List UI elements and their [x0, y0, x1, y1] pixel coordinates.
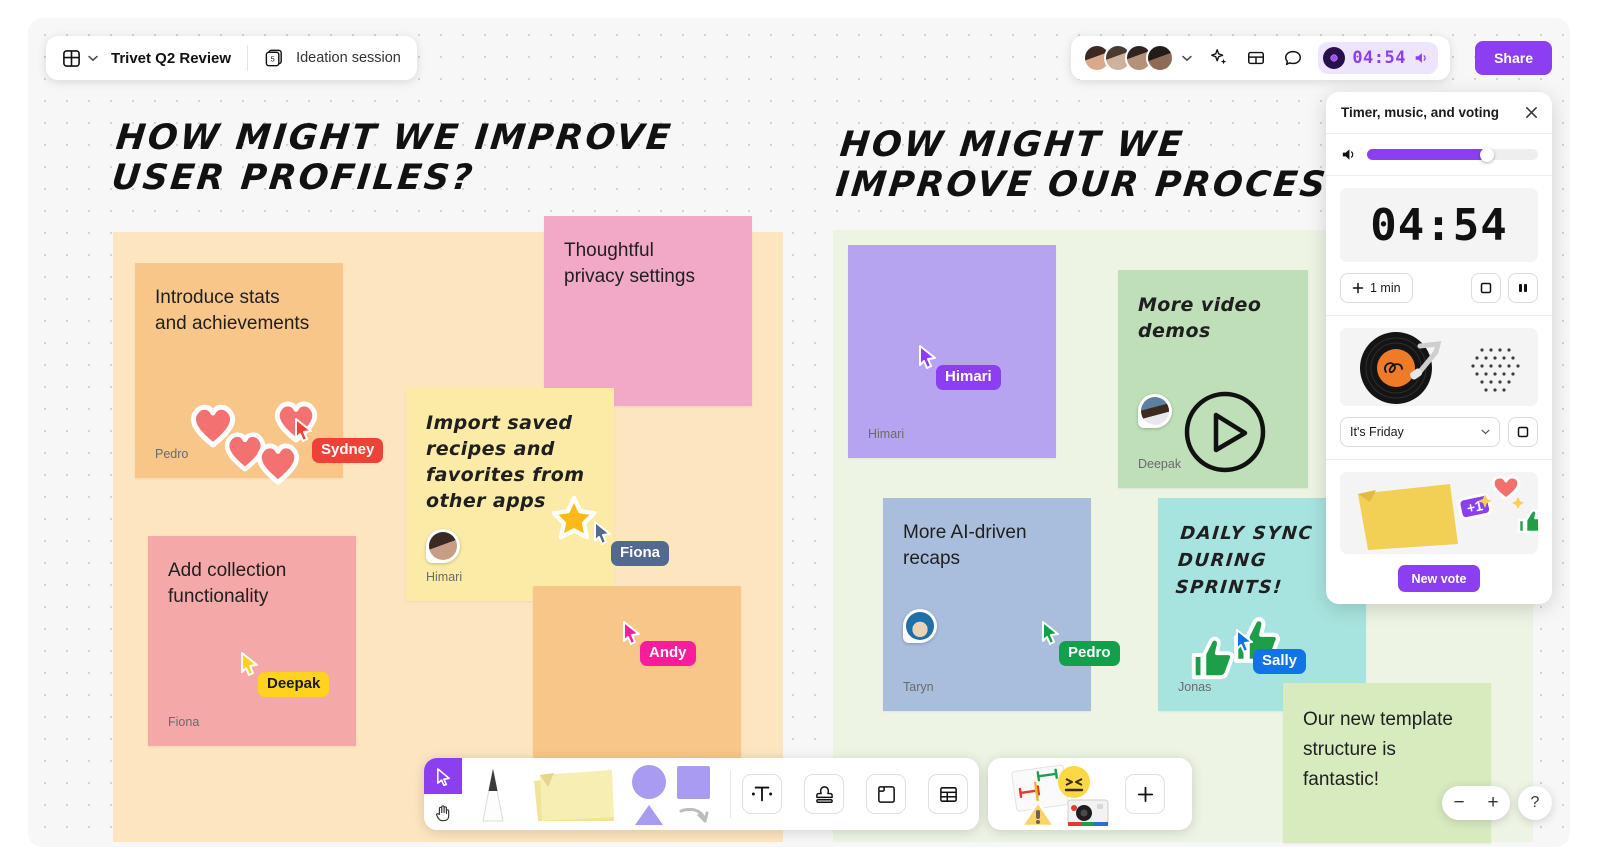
vinyl-icon	[1323, 47, 1345, 69]
more-tool[interactable]	[1114, 758, 1176, 830]
music-section: It's Friday	[1326, 316, 1552, 460]
stamp-icon	[814, 784, 835, 805]
stickers-tool[interactable]	[1004, 758, 1114, 830]
music-stop-button[interactable]	[1508, 417, 1538, 447]
track-select[interactable]: It's Friday	[1340, 417, 1500, 447]
text-tool-button[interactable]	[742, 774, 782, 814]
new-vote-button[interactable]: New vote	[1398, 565, 1481, 592]
music-row: It's Friday	[1340, 417, 1538, 447]
heart-sticker[interactable]	[254, 439, 302, 485]
section-tool-button[interactable]	[866, 774, 906, 814]
sticky-note-text: Introduce stats and achievements	[155, 285, 323, 337]
timer-display: 04:54	[1340, 188, 1538, 262]
section-tool[interactable]	[855, 758, 917, 830]
figjam-logo-icon	[62, 49, 81, 68]
file-toolbar: Trivet Q2 Review 5 Ideation session	[46, 36, 417, 80]
sticky-note-text: DAILY SYNC DURING SPRINTS!	[1174, 520, 1314, 601]
panel-title: Timer, music, and voting	[1341, 105, 1499, 120]
sticky-note-text: Add collection functionality	[168, 558, 336, 610]
plus-icon	[1135, 784, 1156, 805]
vote-sticky-illustration: +1	[1340, 472, 1538, 554]
text-tool[interactable]	[731, 758, 793, 830]
timer-value-label: 04:54	[1352, 48, 1406, 68]
thumbs-up-sticker[interactable]	[1230, 613, 1282, 665]
sticky-note-author: Fiona	[168, 709, 199, 735]
sticky-note-tool[interactable]	[524, 758, 620, 830]
table-tool-button[interactable]	[928, 774, 968, 814]
hand-tool[interactable]	[424, 794, 462, 830]
panel-header: Timer, music, and voting	[1326, 92, 1552, 134]
cursor-tool[interactable]	[424, 758, 462, 794]
timer-section: 04:54 1 min	[1326, 176, 1552, 316]
section-frame-icon	[876, 784, 897, 805]
stop-icon	[1480, 282, 1492, 294]
voting-illustration: +1	[1340, 472, 1538, 554]
chevron-down-icon[interactable]	[88, 55, 98, 62]
timer-pill[interactable]: 04:54	[1318, 42, 1438, 74]
collaborator-avatars[interactable]	[1083, 44, 1174, 72]
bottom-toolbar	[424, 758, 1192, 830]
table-tool[interactable]	[917, 758, 979, 830]
sticky-note-add-collection[interactable]: Add collection functionality Fiona	[148, 536, 356, 746]
table-icon	[938, 784, 959, 805]
star-sticker[interactable]	[550, 494, 598, 542]
avatar-deepak-on-note	[1138, 394, 1172, 428]
stop-button[interactable]	[1471, 273, 1501, 303]
thumbs-up-sticker[interactable]	[1188, 633, 1236, 681]
hand-icon	[434, 803, 452, 822]
add-minute-button[interactable]: 1 min	[1340, 273, 1413, 303]
session-badge-count: 5	[271, 54, 275, 63]
volume-row	[1340, 146, 1538, 163]
layout-grid-icon[interactable]	[1239, 41, 1273, 75]
text-icon	[751, 783, 773, 805]
sticky-note-author: Taryn	[903, 674, 934, 700]
sticky-note-author: Deepak	[1138, 451, 1181, 477]
figjam-app: HOW MIGHT WE IMPROVE USER PROFILES? HOW …	[0, 0, 1598, 865]
timer-music-voting-panel: Timer, music, and voting 04:54	[1326, 92, 1552, 604]
sticky-note-author: Pedro	[155, 441, 188, 467]
speaker-icon[interactable]	[1340, 146, 1357, 163]
sticky-note-privacy-settings[interactable]: Thoughtful privacy settings	[544, 216, 752, 406]
session-pages-icon: 5	[264, 48, 285, 69]
pen-tool[interactable]	[462, 758, 524, 830]
add-minute-label: 1 min	[1370, 281, 1401, 295]
session-name-label[interactable]: Ideation session	[296, 50, 401, 66]
stamp-tool-button[interactable]	[804, 774, 844, 814]
shapes-tool[interactable]	[620, 758, 730, 830]
avatar-himari-on-note	[426, 529, 460, 563]
toolbar-group-media	[988, 758, 1192, 830]
stamp-tool[interactable]	[793, 758, 855, 830]
file-name-label[interactable]: Trivet Q2 Review	[111, 50, 231, 67]
sticky-note-blank-purple[interactable]: Himari	[848, 245, 1056, 458]
shapes-icon	[621, 763, 729, 825]
ai-sparkle-icon[interactable]	[1202, 41, 1236, 75]
voting-section: +1 New vote	[1326, 460, 1552, 604]
sticky-note-text: Our new template structure is fantastic!	[1303, 705, 1471, 795]
play-button-sticker[interactable]	[1183, 390, 1267, 474]
zoom-in-button[interactable]: +	[1476, 786, 1510, 820]
volume-slider[interactable]	[1367, 149, 1538, 160]
close-icon[interactable]	[1524, 105, 1539, 120]
help-button[interactable]: ?	[1518, 786, 1552, 820]
sticky-note-ai-recaps[interactable]: More AI-driven recaps Taryn	[883, 498, 1091, 711]
sticky-note-author: Himari	[868, 421, 904, 447]
avatar-taryn-on-note	[903, 609, 937, 643]
heart-sticker[interactable]	[272, 397, 320, 443]
chevron-down-icon[interactable]	[1182, 55, 1192, 62]
sticky-note-text: Thoughtful privacy settings	[564, 238, 732, 290]
volume-slider-fill	[1367, 149, 1487, 160]
toolbar-group-main	[424, 758, 979, 830]
board-heading-process: HOW MIGHT WE IMPROVE OUR PROCESS?	[834, 125, 1383, 205]
avatar[interactable]	[1146, 44, 1174, 72]
collab-toolbar: 04:54	[1071, 36, 1450, 80]
pause-icon	[1517, 282, 1529, 294]
session-section[interactable]: 5 Ideation session	[248, 36, 417, 80]
timer-digits: 04:54	[1370, 200, 1507, 251]
volume-slider-knob[interactable]	[1480, 148, 1494, 162]
sticky-note-author: Himari	[426, 564, 462, 590]
add-more-button[interactable]	[1125, 774, 1165, 814]
stickers-media-icon	[1006, 762, 1112, 826]
pause-button[interactable]	[1508, 273, 1538, 303]
comment-bubble-icon[interactable]	[1276, 41, 1310, 75]
vinyl-record-icon	[1340, 328, 1538, 406]
cursor-pointer-icon	[435, 767, 452, 786]
share-button[interactable]: Share	[1475, 41, 1552, 75]
marker-pen-icon	[476, 765, 510, 823]
sticky-note-text: More AI-driven recaps	[903, 520, 1071, 572]
sticky-notes-stack-icon	[524, 765, 620, 823]
board-heading-user-profiles: HOW MIGHT WE IMPROVE USER PROFILES?	[110, 118, 675, 198]
plus-icon	[1352, 282, 1364, 294]
stop-icon	[1517, 426, 1529, 438]
file-menu-section[interactable]: Trivet Q2 Review	[46, 36, 247, 80]
cursor-hand-tool-stack	[424, 758, 462, 830]
volume-section	[1326, 134, 1552, 176]
zoom-controls: − +	[1442, 786, 1510, 820]
timer-actions: 1 min	[1340, 273, 1538, 303]
chevron-down-icon	[1481, 429, 1490, 435]
zoom-out-button[interactable]: −	[1442, 786, 1476, 820]
sticky-note-text: More video demos	[1138, 292, 1288, 344]
track-name-label: It's Friday	[1350, 425, 1404, 439]
record-player-illustration	[1340, 328, 1538, 406]
speaker-icon[interactable]	[1413, 50, 1429, 66]
